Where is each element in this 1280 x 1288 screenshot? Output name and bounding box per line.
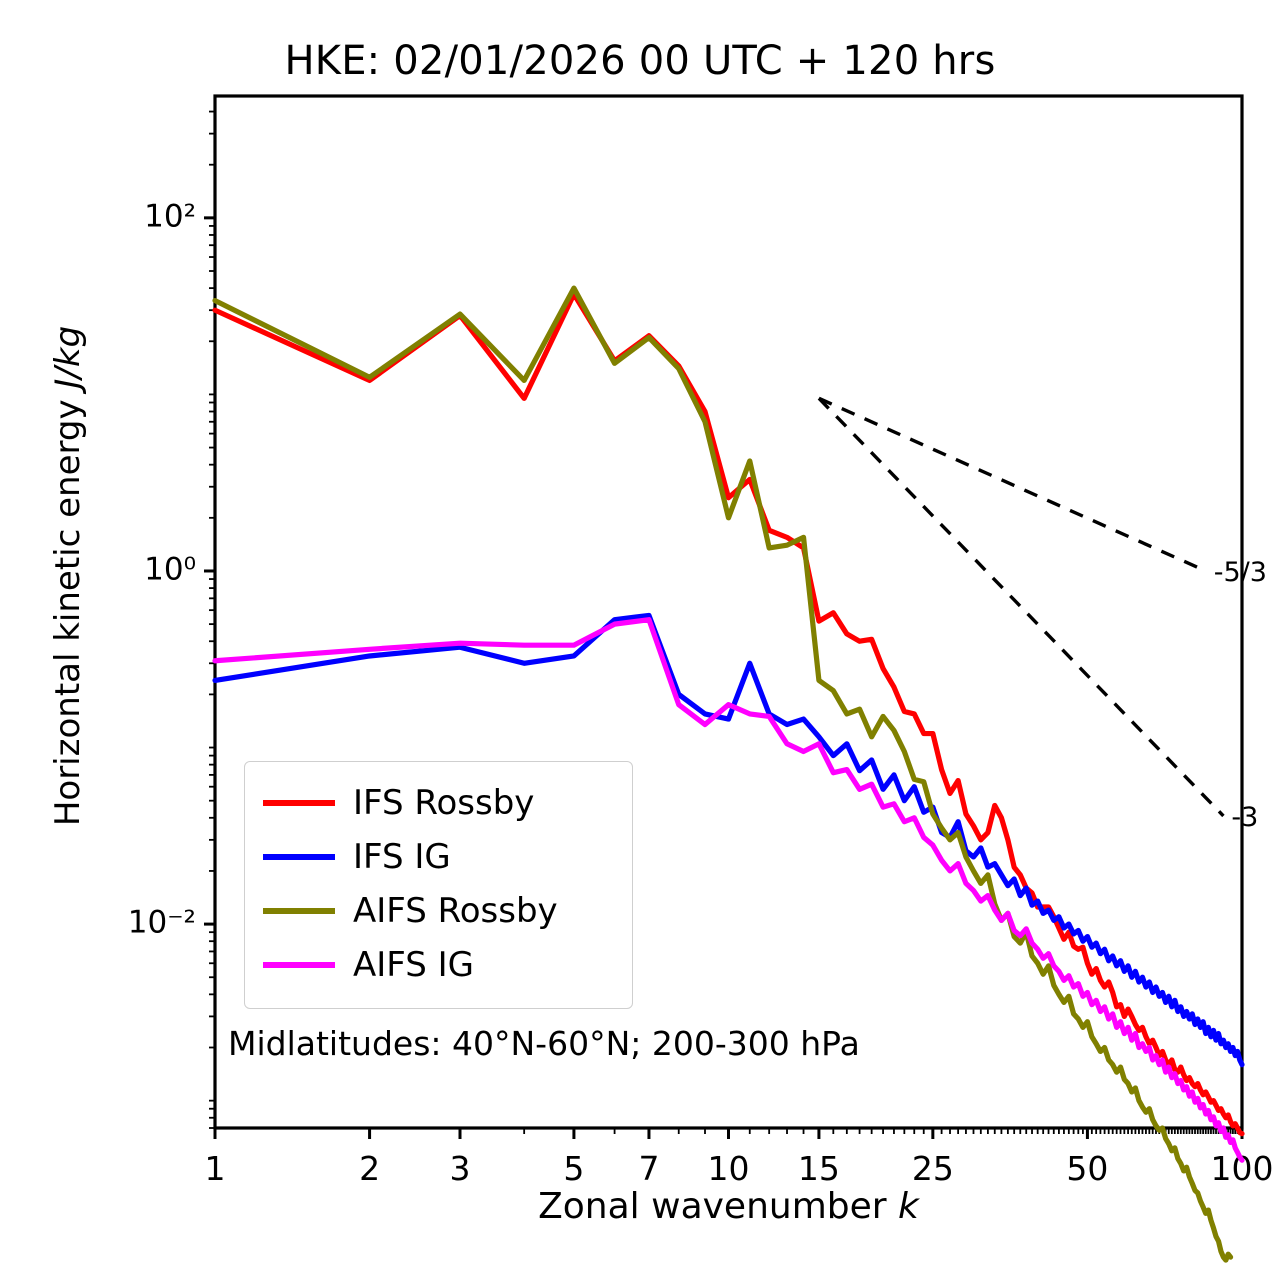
figure-root: HKE: 02/01/2026 00 UTC + 120 hrs Horizon… xyxy=(0,0,1280,1288)
slope-label--3: -3 xyxy=(1231,802,1258,833)
x-tick-label: 3 xyxy=(450,1149,471,1188)
y-tick-label: 10² xyxy=(144,198,196,234)
y-tick-label: 10⁻² xyxy=(128,905,196,941)
region-annotation: Midlatitudes: 40°N-60°N; 200-300 hPa xyxy=(228,1024,860,1063)
chart-legend: IFS Rossby IFS IG AIFS Rossby AIFS IG xyxy=(244,761,633,1009)
x-tick-label: 15 xyxy=(798,1149,840,1188)
legend-label-aifs-ig: AIFS IG xyxy=(353,948,474,982)
x-tick-label: 5 xyxy=(563,1149,584,1188)
x-tick-label: 1 xyxy=(205,1149,226,1188)
x-tick-label: 7 xyxy=(638,1149,659,1188)
x-tick-label: 25 xyxy=(912,1149,954,1188)
x-tick-label: 100 xyxy=(1211,1149,1274,1188)
legend-label-ifs-rossby: IFS Rossby xyxy=(353,786,534,820)
legend-item-2[interactable]: AIFS Rossby xyxy=(263,884,614,938)
legend-swatch-ifs-rossby xyxy=(263,800,335,806)
legend-swatch-aifs-ig xyxy=(263,962,335,968)
x-tick-label: 50 xyxy=(1066,1149,1108,1188)
legend-label-aifs-rossby: AIFS Rossby xyxy=(353,894,558,928)
legend-item-0[interactable]: IFS Rossby xyxy=(263,776,614,830)
y-tick-labels: 10²10⁰10⁻² xyxy=(128,198,196,940)
y-tick-label: 10⁰ xyxy=(144,551,196,587)
legend-item-1[interactable]: IFS IG xyxy=(263,830,614,884)
legend-label-ifs-ig: IFS IG xyxy=(353,840,451,874)
x-tick-label: 10 xyxy=(708,1149,750,1188)
legend-swatch-aifs-rossby xyxy=(263,908,335,914)
reference-slope-lines xyxy=(819,398,1223,816)
plot-canvas: 10²10⁰10⁻² 1235710152550100 -5/3-3 xyxy=(0,0,1280,1288)
slope-label--5-3: -5/3 xyxy=(1214,557,1267,588)
reference-slope-labels: -5/3-3 xyxy=(1214,557,1267,833)
x-tick-label: 2 xyxy=(359,1149,380,1188)
x-tick-labels: 1235710152550100 xyxy=(205,1149,1274,1188)
legend-swatch-ifs-ig xyxy=(263,854,335,860)
legend-item-3[interactable]: AIFS IG xyxy=(263,938,614,992)
